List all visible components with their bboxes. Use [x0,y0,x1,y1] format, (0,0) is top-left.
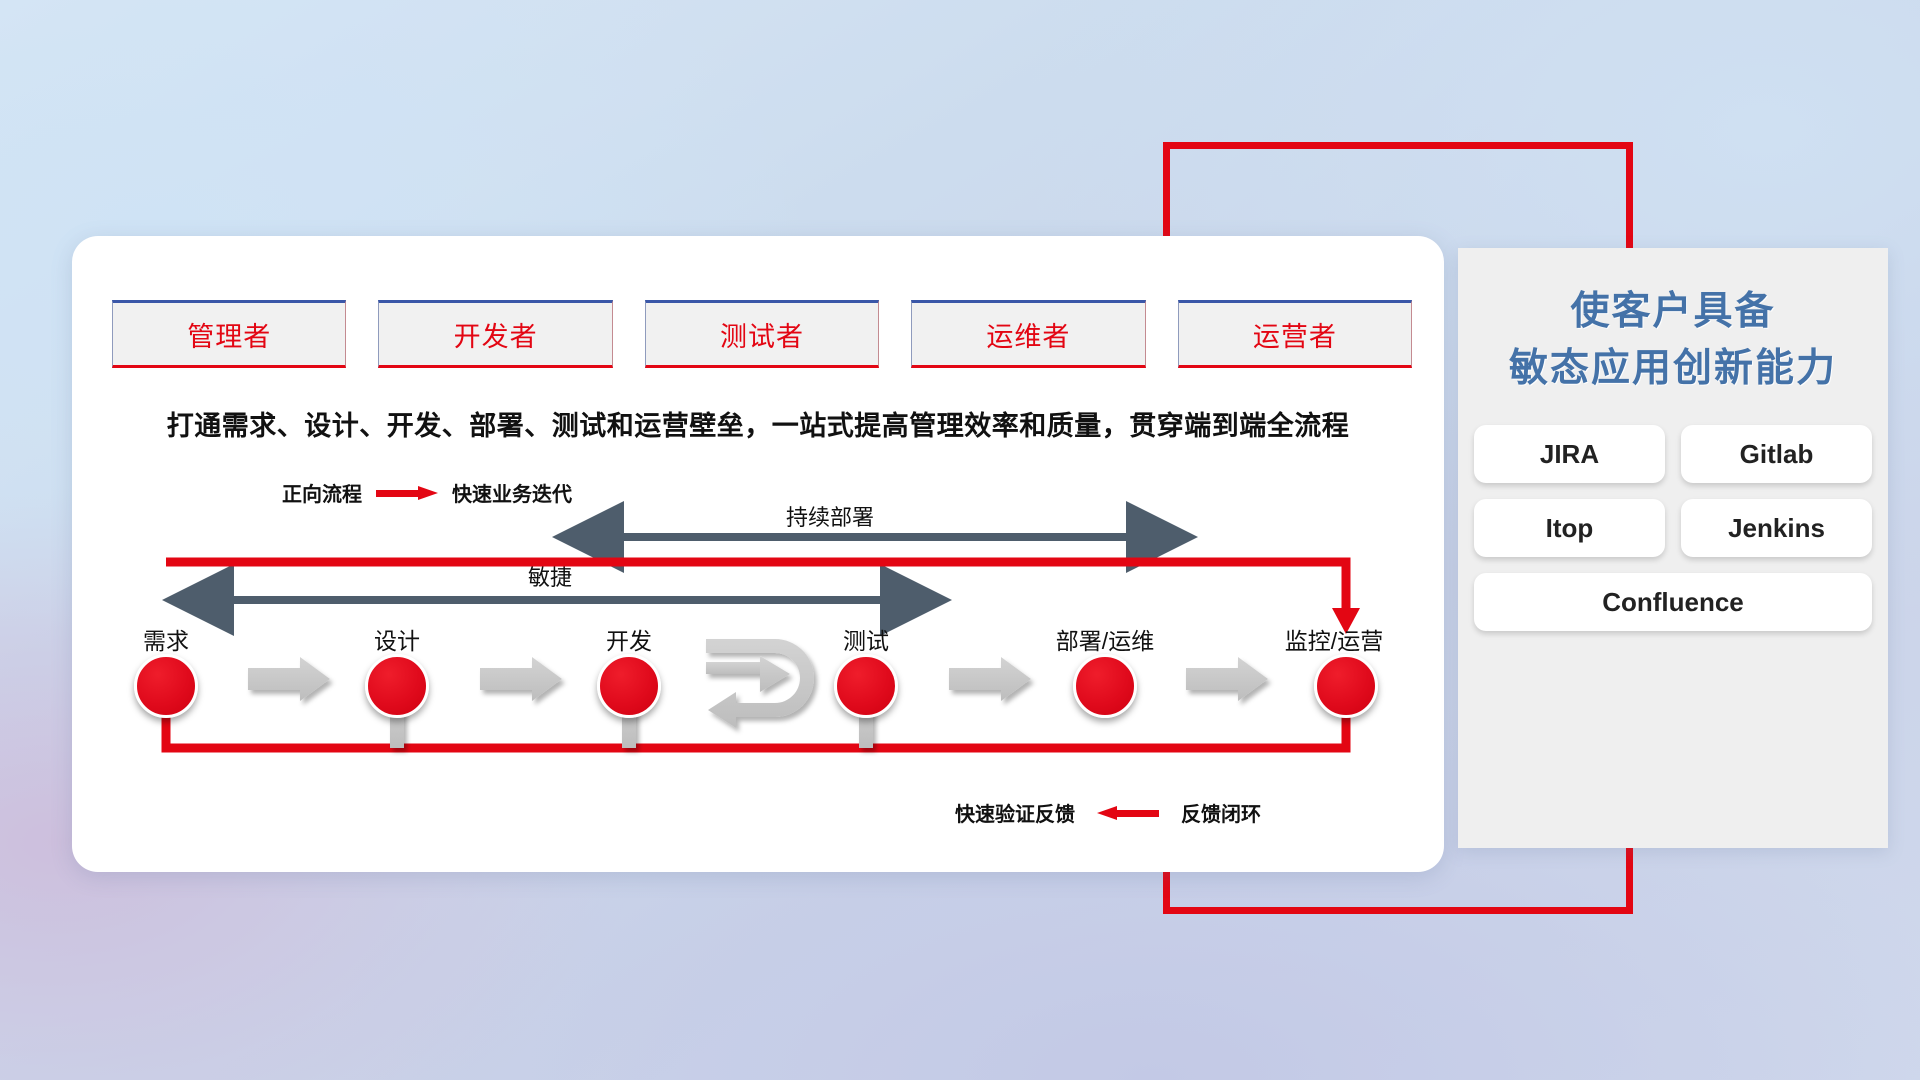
tool-chip-confluence[interactable]: Confluence [1474,573,1872,631]
tool-chip-label: Jenkins [1728,513,1825,544]
span-label-agile: 敏捷 [420,560,680,592]
forward-flow-right-label: 快速业务迭代 [452,478,572,507]
tool-chip-label: JIRA [1540,439,1599,470]
role-chip-label: 运维者 [986,315,1070,354]
stage-label-development: 开发 [606,622,652,656]
tool-chip-label: Confluence [1602,587,1744,618]
stage-node-monitor-operations[interactable] [1314,654,1378,718]
tool-chip-jira[interactable]: JIRA [1474,425,1665,483]
role-chip-label: 开发者 [454,315,538,354]
stage-label-requirements: 需求 [143,622,189,656]
role-chip-label: 运营者 [1253,315,1337,354]
feedback-flow-left-label: 快速验证反馈 [955,798,1075,827]
stage-label-design: 设计 [374,622,420,656]
role-chip-row: 管理者 开发者 测试者 运维者 运营者 [112,300,1412,368]
stage-node-design[interactable] [365,654,429,718]
role-chip-label: 测试者 [720,315,804,354]
span-label-continuous-deployment: 持续部署 [700,500,960,532]
tool-chip-grid: JIRA Gitlab Itop Jenkins Confluence [1474,425,1872,631]
tool-chip-label: Gitlab [1740,439,1814,470]
panel-title-line-2: 敏态应用创新能力 [1458,341,1888,398]
role-chip-label: 管理者 [187,315,271,354]
role-chip-tester[interactable]: 测试者 [645,300,879,368]
stage-label-deploy-ops: 部署/运维 [1056,622,1154,656]
stage-node-development[interactable] [597,654,661,718]
forward-flow-left-label: 正向流程 [282,478,362,507]
value-proposition-panel: 使客户具备 敏态应用创新能力 JIRA Gitlab Itop Jenkins … [1458,248,1888,848]
role-chip-manager[interactable]: 管理者 [112,300,346,368]
arrow-right-red-icon [376,486,438,499]
tool-chip-label: Itop [1546,513,1594,544]
panel-title: 使客户具备 敏态应用创新能力 [1458,284,1888,397]
description-text: 打通需求、设计、开发、部署、测试和运营壁垒，一站式提高管理效率和质量，贯穿端到端… [0,404,1516,443]
stage-node-requirements[interactable] [134,654,198,718]
stage-label-monitor-operations: 监控/运营 [1285,622,1383,656]
feedback-flow-right-label: 反馈闭环 [1181,798,1261,827]
tool-chip-itop[interactable]: Itop [1474,499,1665,557]
tool-chip-gitlab[interactable]: Gitlab [1681,425,1872,483]
arrow-left-red-icon [1097,806,1159,819]
panel-title-line-1: 使客户具备 [1458,284,1888,341]
stage-label-testing: 测试 [843,622,889,656]
stage-node-deploy-ops[interactable] [1073,654,1137,718]
forward-flow-caption: 正向流程 快速业务迭代 [282,478,572,507]
role-chip-operations[interactable]: 运营者 [1178,300,1412,368]
tool-chip-jenkins[interactable]: Jenkins [1681,499,1872,557]
role-chip-developer[interactable]: 开发者 [378,300,612,368]
stage-node-testing[interactable] [834,654,898,718]
role-chip-ops[interactable]: 运维者 [911,300,1145,368]
feedback-flow-caption: 快速验证反馈 反馈闭环 [955,798,1261,827]
